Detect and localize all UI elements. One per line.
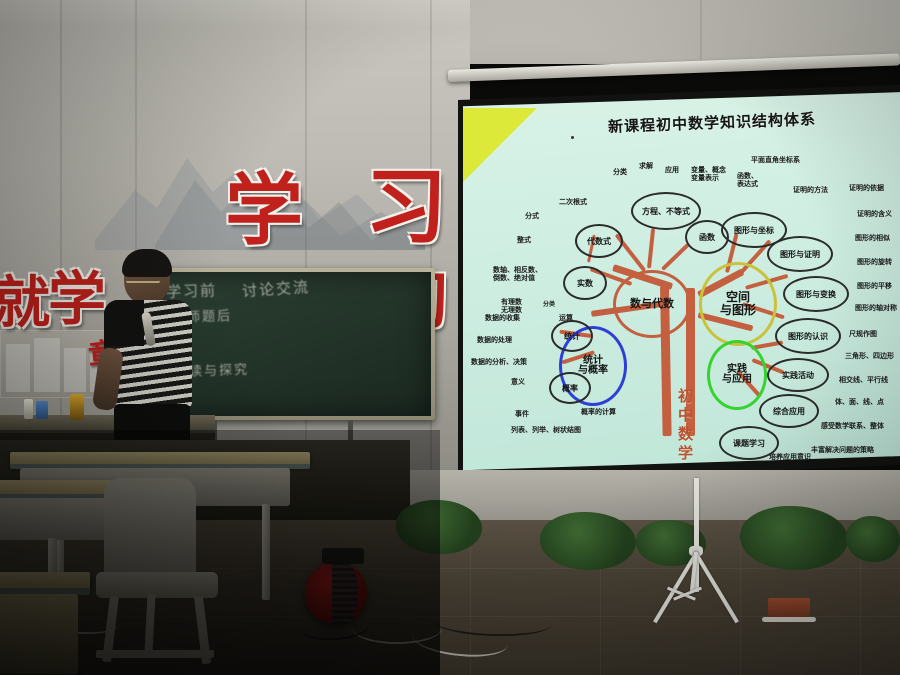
leaf-zhengminghanyi: 证明的含义: [857, 210, 892, 218]
leaf-ganshou: 感受数学联系、整体: [821, 422, 884, 430]
leaf-tuxingxiangsi: 图形的相似: [855, 234, 890, 242]
glasses-icon: [126, 274, 160, 283]
screen-black-border: 新课程初中数学知识结构体系: [458, 84, 900, 484]
node-zongheyingyong: 综合应用: [759, 394, 819, 428]
leaf-shujufenxi: 数据的分析、决策: [471, 358, 527, 366]
potted-plant: [540, 512, 636, 570]
leaf-zhengmingfangfa: 证明的方法: [793, 186, 828, 194]
leaf-xiangjiaoxian: 相交线、平行线: [839, 376, 888, 384]
plant-saucer: [762, 617, 816, 622]
slide-title: 新课程初中数学知识结构体系: [608, 108, 817, 137]
classroom-scene: 学 习 就 学 习 章 年 学习前 讨论交流 教师题后 阅读与探究: [0, 0, 900, 675]
leaf-hanshubiao: 函数、 表达式: [737, 172, 758, 188]
node-tuxingyuzhengming: 图形与证明: [767, 236, 833, 272]
leaf-zhengmingyiju: 证明的依据: [849, 184, 884, 192]
student-desk-tray: [0, 498, 116, 540]
leaf-ercigenshi: 二次根式: [559, 198, 587, 206]
cable-reel-handle: [322, 548, 364, 564]
leaf-tuxingpingyi: 图形的平移: [857, 282, 892, 290]
leaf-youli: 有理数 无理数: [501, 298, 522, 314]
potted-plant: [396, 500, 482, 554]
water-bottle-blue: [36, 401, 48, 419]
hub-shuyudaishu: 数与代数: [613, 270, 691, 338]
wall-character-jiu: 就: [0, 258, 50, 339]
leaf-fengfu: 丰富解决问题的策略: [811, 446, 874, 454]
leaf-tuxingxuanzhuan: 图形的旋转: [857, 258, 892, 266]
hub-shijianyuyingyong: 实践 与应用: [707, 340, 767, 410]
cup: [70, 394, 84, 420]
teacher-shoulder: [104, 300, 144, 346]
node-daishushi: 代数式: [575, 224, 623, 258]
hub-kongjianyutuxing: 空间 与图形: [699, 262, 777, 346]
potted-plant: [740, 506, 848, 570]
leaf-fenlei2: 分类: [543, 302, 555, 309]
potted-plant: [846, 516, 900, 562]
wall-character-xue: 学: [225, 148, 303, 260]
leaf-gailvjisuan: 概率的计算: [581, 408, 616, 416]
slide-surface: 新课程初中数学知识结构体系: [463, 90, 900, 478]
student-desk-leg: [262, 504, 270, 600]
leaf-fenlei: 分类: [613, 168, 627, 176]
leaf-bianliang: 变量、概念 变量表示: [691, 166, 726, 182]
student-desk-tray: [0, 594, 78, 674]
leaf-pingmian: 平面直角坐标系: [751, 156, 800, 164]
leaf-liebiao: 列表、列举、树状结图: [511, 426, 581, 434]
water-bottle: [24, 399, 33, 419]
node-tongji: 统计: [551, 320, 593, 352]
leaf-shijian: 事件: [515, 410, 529, 418]
node-tuxingderenshi: 图形的认识: [775, 318, 841, 354]
teacher-hair: [122, 249, 172, 277]
teacher: [96, 252, 204, 452]
leaf-chiguizuotu: 尺规作图: [849, 330, 877, 338]
node-gailv: 概率: [549, 372, 591, 404]
node-shishu: 实数: [563, 266, 607, 300]
student-chair-foot-rail: [96, 650, 214, 658]
leaf-yingyong: 应用: [665, 166, 679, 174]
leaf-shujuchuli: 数据的处理: [477, 336, 512, 344]
chalk-line-2: 讨论交流: [241, 276, 310, 302]
leaf-fenshi: 分式: [525, 212, 539, 220]
leaf-yunsuan: 运算: [559, 314, 573, 322]
wall-character-xi: 习: [365, 140, 447, 259]
student-chair-seat: [96, 572, 218, 598]
leaf-tuxingduichen: 图形的轴对称: [855, 304, 897, 312]
plant-pot: [768, 598, 810, 618]
leaf-timianxiandian: 体、面、线、点: [835, 398, 884, 406]
slide-trunk-label: 初中数学: [675, 388, 696, 464]
student-chair-back: [104, 478, 196, 586]
leaf-sanjiaoxing: 三角形、四边形: [845, 352, 894, 360]
leaf-qiujie: 求解: [639, 162, 653, 170]
leaf-shuzhou: 数轴、相反数、 倒数、绝对值: [493, 266, 542, 282]
slide-accent-corner: [463, 108, 537, 182]
node-shijianhuodong: 实践活动: [767, 358, 829, 392]
projection-screen: 新课程初中数学知识结构体系: [440, 62, 900, 482]
slide-bullet-dot: [571, 136, 574, 139]
leaf-zhengshi: 整式: [517, 236, 531, 244]
node-tuxingyubianhuan: 图形与变换: [783, 276, 849, 312]
leaf-yiyi: 意义: [511, 378, 525, 386]
leaf-shujushouji: 数据的收集: [485, 314, 520, 322]
